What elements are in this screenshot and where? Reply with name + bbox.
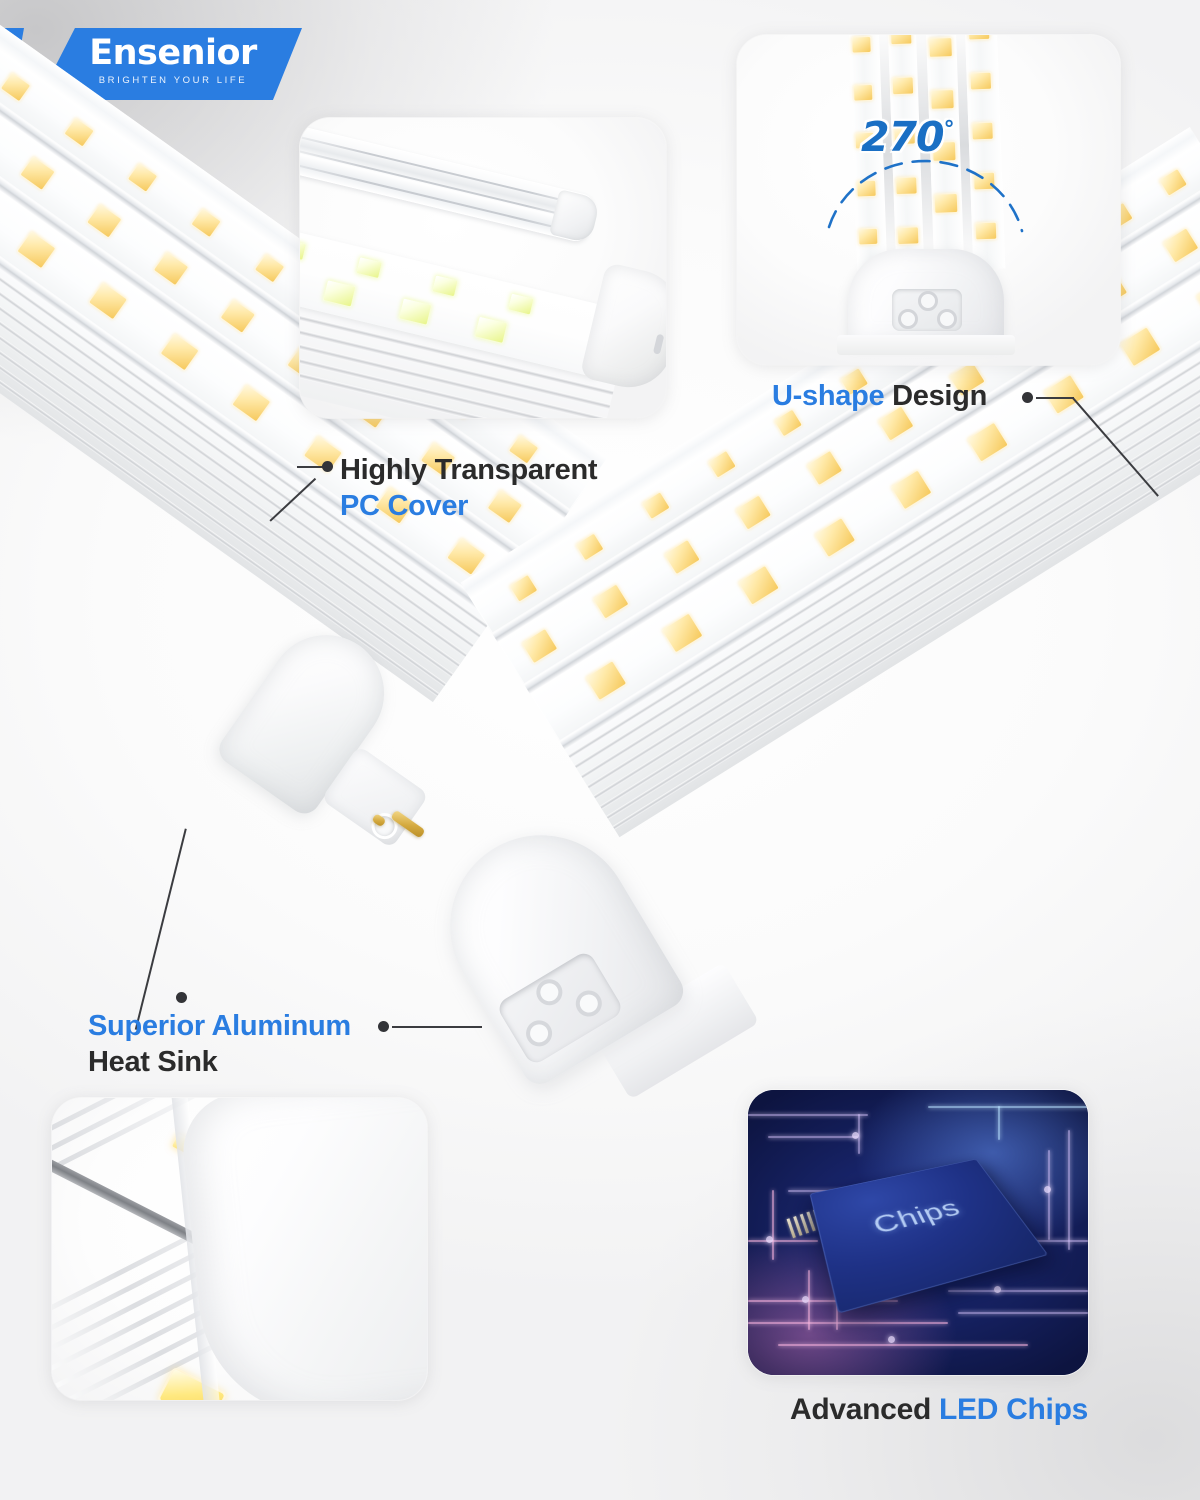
callout-led-chips-dark: Advanced xyxy=(790,1393,931,1426)
callout-pc-cover-line2: PC Cover xyxy=(340,488,597,524)
callout-u-shape-blue: U-shape xyxy=(772,380,884,412)
callout-lead-u-shape-horizontal xyxy=(1036,397,1074,399)
u-shape-endcap-dome xyxy=(848,249,1004,345)
inset-pc-cover xyxy=(300,118,666,418)
u-shape-illustration: 270° xyxy=(737,35,1120,365)
heat-sink-illustration xyxy=(52,1098,427,1400)
callout-dot-u-shape xyxy=(1022,392,1033,403)
callout-u-shape-dark: Design xyxy=(892,380,987,412)
callout-heat-sink: Superior Aluminum Heat Sink xyxy=(88,1008,351,1080)
logo-tagline: BRIGHTEN YOUR LIFE xyxy=(68,74,278,88)
callout-dot-pc-cover xyxy=(322,461,333,472)
inset-u-shape-design: 270° xyxy=(737,35,1120,365)
product-infographic: Ensenior BRIGHTEN YOUR LIFE xyxy=(0,0,1200,1500)
pc-cover-transparent-lens xyxy=(300,120,597,244)
beam-angle-label: 270° xyxy=(861,113,954,161)
callout-dot-heat-sink-right xyxy=(378,1021,389,1032)
pc-cover-illustration xyxy=(300,118,666,418)
callout-lead-heat-sink-horizontal xyxy=(392,1026,482,1028)
callout-heat-sink-line1: Superior Aluminum xyxy=(88,1008,351,1044)
callout-lead-pc-cover-horizontal xyxy=(297,466,325,468)
pc-cover-endcap xyxy=(579,262,666,396)
pc-cover-endcap-slot xyxy=(653,334,664,355)
heat-sink-endcap xyxy=(177,1098,427,1400)
callout-u-shape: U-shape Design xyxy=(772,378,987,414)
callout-heat-sink-line2: Heat Sink xyxy=(88,1044,351,1080)
right-tube-endcap-group xyxy=(452,820,792,1120)
callout-led-chips: Advanced LED Chips xyxy=(790,1392,1088,1428)
logo-wordmark: Ensenior xyxy=(68,32,278,74)
u-shape-endcap-base xyxy=(837,335,1015,355)
callout-dot-heat-sink-left xyxy=(176,992,187,1003)
callout-pc-cover-line1: Highly Transparent xyxy=(340,452,597,488)
inset-led-chips: Chips xyxy=(748,1090,1088,1375)
callout-led-chips-blue: LED Chips xyxy=(939,1393,1088,1426)
callout-pc-cover: Highly Transparent PC Cover xyxy=(340,452,597,524)
u-shape-socket-plate xyxy=(892,289,962,331)
beam-angle-unit: ° xyxy=(944,117,954,142)
chips-pcb-photo: Chips xyxy=(748,1090,1088,1375)
inset-heat-sink xyxy=(52,1098,427,1400)
pc-cover-lens-end xyxy=(549,189,601,244)
beam-angle-value: 270 xyxy=(861,113,944,161)
logo-text-group: Ensenior BRIGHTEN YOUR LIFE xyxy=(68,32,278,88)
